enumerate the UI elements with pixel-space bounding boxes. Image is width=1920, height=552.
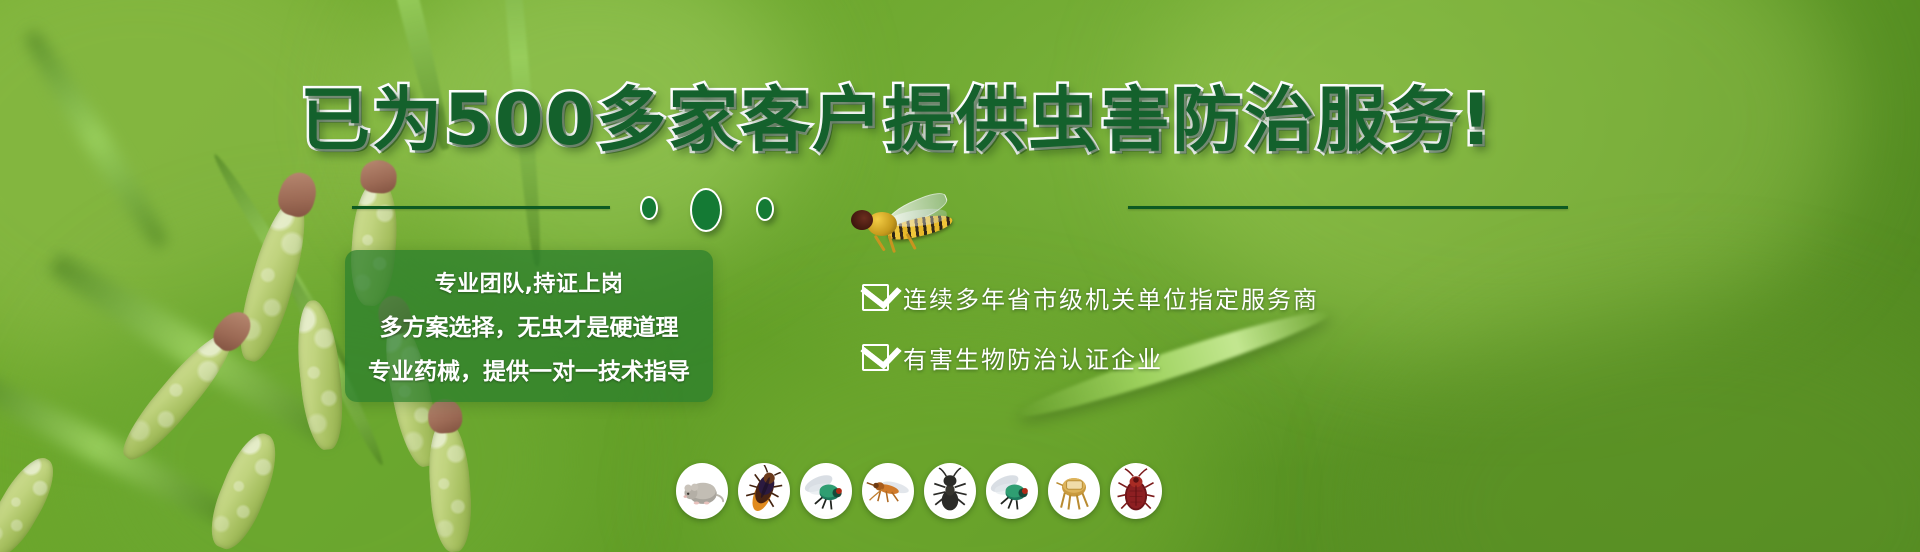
fly-icon[interactable] — [800, 463, 852, 519]
bedbug-icon[interactable] — [1110, 463, 1162, 519]
pest-type-icon-row — [676, 463, 1162, 519]
pest-control-banner: 已为500多家客户提供虫害防治服务! 专业团队,持证上岗 多方案选择，无虫才是硬… — [0, 0, 1920, 552]
checklist-item: 连续多年省市级机关单位指定服务商 — [862, 272, 1562, 322]
cockroach-icon[interactable] — [738, 463, 790, 519]
hoverfly-icon — [845, 196, 965, 258]
ant-icon[interactable] — [924, 463, 976, 519]
selling-point-line: 多方案选择，无虫才是硬道理 — [380, 308, 679, 342]
mosquito-icon[interactable] — [862, 463, 914, 519]
fly-icon-2[interactable] — [986, 463, 1038, 519]
checkbox-checked-icon — [862, 344, 889, 371]
checklist-item: 有害生物防治认证企业 — [862, 332, 1562, 382]
checklist-item-label: 连续多年省市级机关单位指定服务商 — [903, 280, 1319, 315]
divider-dot-large — [690, 188, 722, 232]
flea-icon[interactable] — [1048, 463, 1100, 519]
hoverfly-leg — [874, 235, 886, 252]
checklist-item-label: 有害生物防治认证企业 — [903, 340, 1163, 375]
divider-line-right — [1128, 206, 1568, 209]
mouse-icon[interactable] — [676, 463, 728, 519]
divider-line-left — [352, 206, 610, 209]
divider-dot-small — [756, 197, 774, 221]
divider-dot-small — [640, 196, 658, 220]
banner-headline-text: 已为500多家客户提供虫害防治服务! — [300, 64, 1494, 165]
selling-point-line: 专业药械，提供一对一技术指导 — [368, 352, 690, 386]
selling-points-panel: 专业团队,持证上岗 多方案选择，无虫才是硬道理 专业药械，提供一对一技术指导 — [345, 250, 713, 402]
banner-headline: 已为500多家客户提供虫害防治服务! — [300, 68, 1580, 160]
hoverfly-head — [851, 210, 873, 230]
checkbox-checked-icon — [862, 284, 889, 311]
selling-point-line: 专业团队,持证上岗 — [435, 266, 624, 298]
certification-checklist: 连续多年省市级机关单位指定服务商 有害生物防治认证企业 — [862, 272, 1562, 382]
